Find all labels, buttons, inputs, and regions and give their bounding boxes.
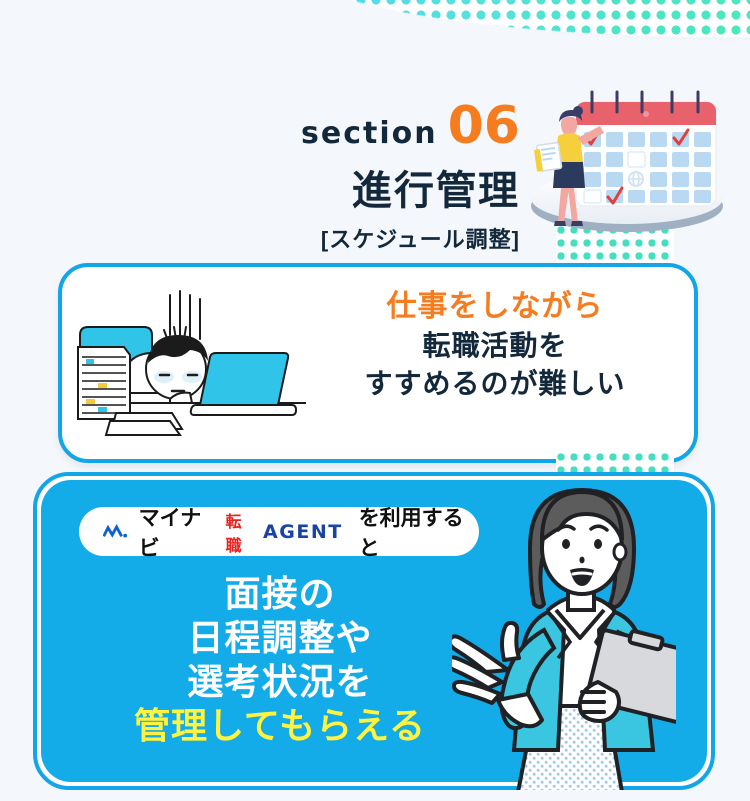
page-subtitle: [スケジュール調整] bbox=[0, 222, 520, 254]
problem-line-2: 転職活動を bbox=[330, 329, 660, 362]
problem-card: 仕事をしながら 転職活動を すすめるのが難しい bbox=[58, 263, 698, 463]
solution-card-headline: 面接の 日程調整や 選考状況を 管理してもらえる bbox=[100, 572, 460, 748]
problem-line-1: 仕事をしながら bbox=[330, 289, 660, 324]
solution-line-4: 管理してもらえる bbox=[100, 704, 460, 748]
page-title: 進行管理 bbox=[0, 158, 520, 216]
problem-line-3: すすめるのが難しい bbox=[330, 367, 660, 400]
section-kicker: section bbox=[301, 116, 438, 151]
tired-man-at-desk-illustration bbox=[72, 287, 324, 442]
smiling-career-advisor-illustration bbox=[452, 460, 714, 790]
logo-agent-text: AGENT bbox=[263, 521, 343, 543]
section-kicker-row: section 06 bbox=[0, 100, 520, 152]
solution-line-2: 日程調整や bbox=[100, 616, 460, 660]
logo-tenshoku-text: 転職 bbox=[225, 508, 256, 556]
teal-halftone-swoosh bbox=[175, 0, 750, 74]
mynavi-agent-logo-badge: マイナビ 転職 AGENT を利用すると bbox=[79, 507, 479, 556]
logo-brand-text: マイナビ bbox=[139, 502, 219, 562]
solution-line-3: 選考状況を bbox=[100, 660, 460, 704]
problem-card-text: 仕事をしながら 転職活動を すすめるのが難しい bbox=[330, 289, 660, 400]
section-header: section 06 進行管理 [スケジュール調整] bbox=[0, 100, 520, 254]
mynavi-wave-mark bbox=[103, 524, 132, 540]
section-number: 06 bbox=[448, 100, 520, 152]
solution-line-1: 面接の bbox=[100, 572, 460, 616]
infographic-stage: section 06 進行管理 [スケジュール調整] bbox=[0, 0, 750, 801]
calendar-scheduling-illustration bbox=[522, 78, 732, 268]
